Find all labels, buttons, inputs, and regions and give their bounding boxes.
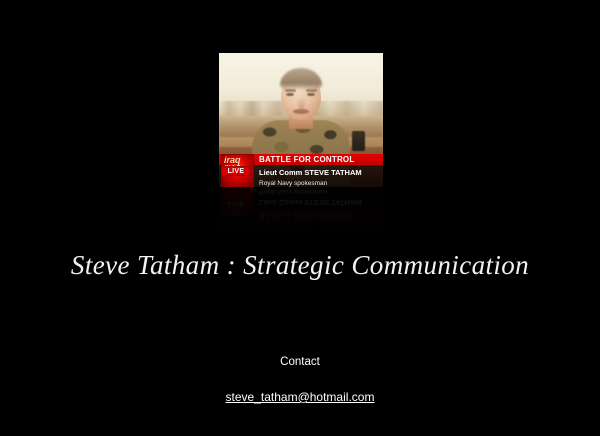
eye-left: [286, 93, 294, 97]
reflected-foreground: [219, 188, 383, 228]
broadcast-still-photo: BATTLE FOR CONTROL Lieut Comm STEVE TATH…: [219, 53, 383, 187]
contact-email-link[interactable]: steve_tatham@hotmail.com: [226, 390, 375, 404]
reflected-channel-logo-line2: WAR: [222, 204, 253, 210]
reflected-lower-third: BATTLE FOR CONTROL Lieut Comm STEVE TATH…: [219, 188, 383, 221]
reflection-fade-overlay: [219, 188, 383, 234]
reflected-live-badge: LIVE: [221, 199, 251, 209]
reflected-uniform: [252, 188, 350, 234]
eye-right: [307, 93, 315, 97]
reflected-channel-logo-line1: iraq: [222, 210, 253, 220]
page-title: Steve Tatham : Strategic Communication: [0, 250, 600, 281]
reflection-mirror-copy: BATTLE FOR CONTROL Lieut Comm STEVE TATH…: [219, 188, 383, 234]
eyebrow-right: [306, 89, 317, 92]
channel-logo-line1: iraq: [222, 155, 253, 165]
speaker-name: Lieut Comm STEVE TATHAM: [259, 165, 383, 177]
live-badge: LIVE: [221, 166, 251, 176]
nose: [298, 97, 305, 109]
reflected-speaker-name: Lieut Comm STEVE TATHAM: [259, 199, 383, 211]
speaker-role: Royal Navy spokesman: [259, 177, 383, 188]
hair: [280, 68, 322, 90]
contact-heading: Contact: [0, 355, 600, 369]
reflected-person-figure: [219, 188, 383, 234]
reflected-channel-logo-icon: iraq WAR: [221, 188, 254, 221]
reflected-live-badge-label: LIVE: [228, 201, 245, 208]
contact-section: Contact steve_tatham@hotmail.com: [0, 355, 600, 406]
rank-insignia: [352, 131, 365, 151]
mouth: [293, 109, 309, 114]
reflected-speaker-info-bar: Lieut Comm STEVE TATHAM Royal Navy spoke…: [219, 188, 383, 210]
reflected-background-scene: [219, 188, 383, 234]
reflected-headline-text: BATTLE FOR CONTROL: [259, 212, 354, 220]
reflected-still: BATTLE FOR CONTROL Lieut Comm STEVE TATH…: [219, 188, 383, 234]
live-badge-label: LIVE: [228, 168, 245, 175]
reflected-haze-overlay: [219, 188, 383, 234]
eyebrow-left: [285, 89, 296, 92]
broadcast-lower-third: BATTLE FOR CONTROL Lieut Comm STEVE TATH…: [219, 154, 383, 187]
reflected-headline-bar: BATTLE FOR CONTROL: [219, 210, 383, 221]
reflected-speaker-role: Royal Navy spokesman: [259, 188, 383, 199]
headline-text: BATTLE FOR CONTROL: [259, 156, 354, 164]
photo-reflection: BATTLE FOR CONTROL Lieut Comm STEVE TATH…: [219, 188, 383, 234]
hero-photo-block: BATTLE FOR CONTROL Lieut Comm STEVE TATH…: [219, 53, 383, 187]
